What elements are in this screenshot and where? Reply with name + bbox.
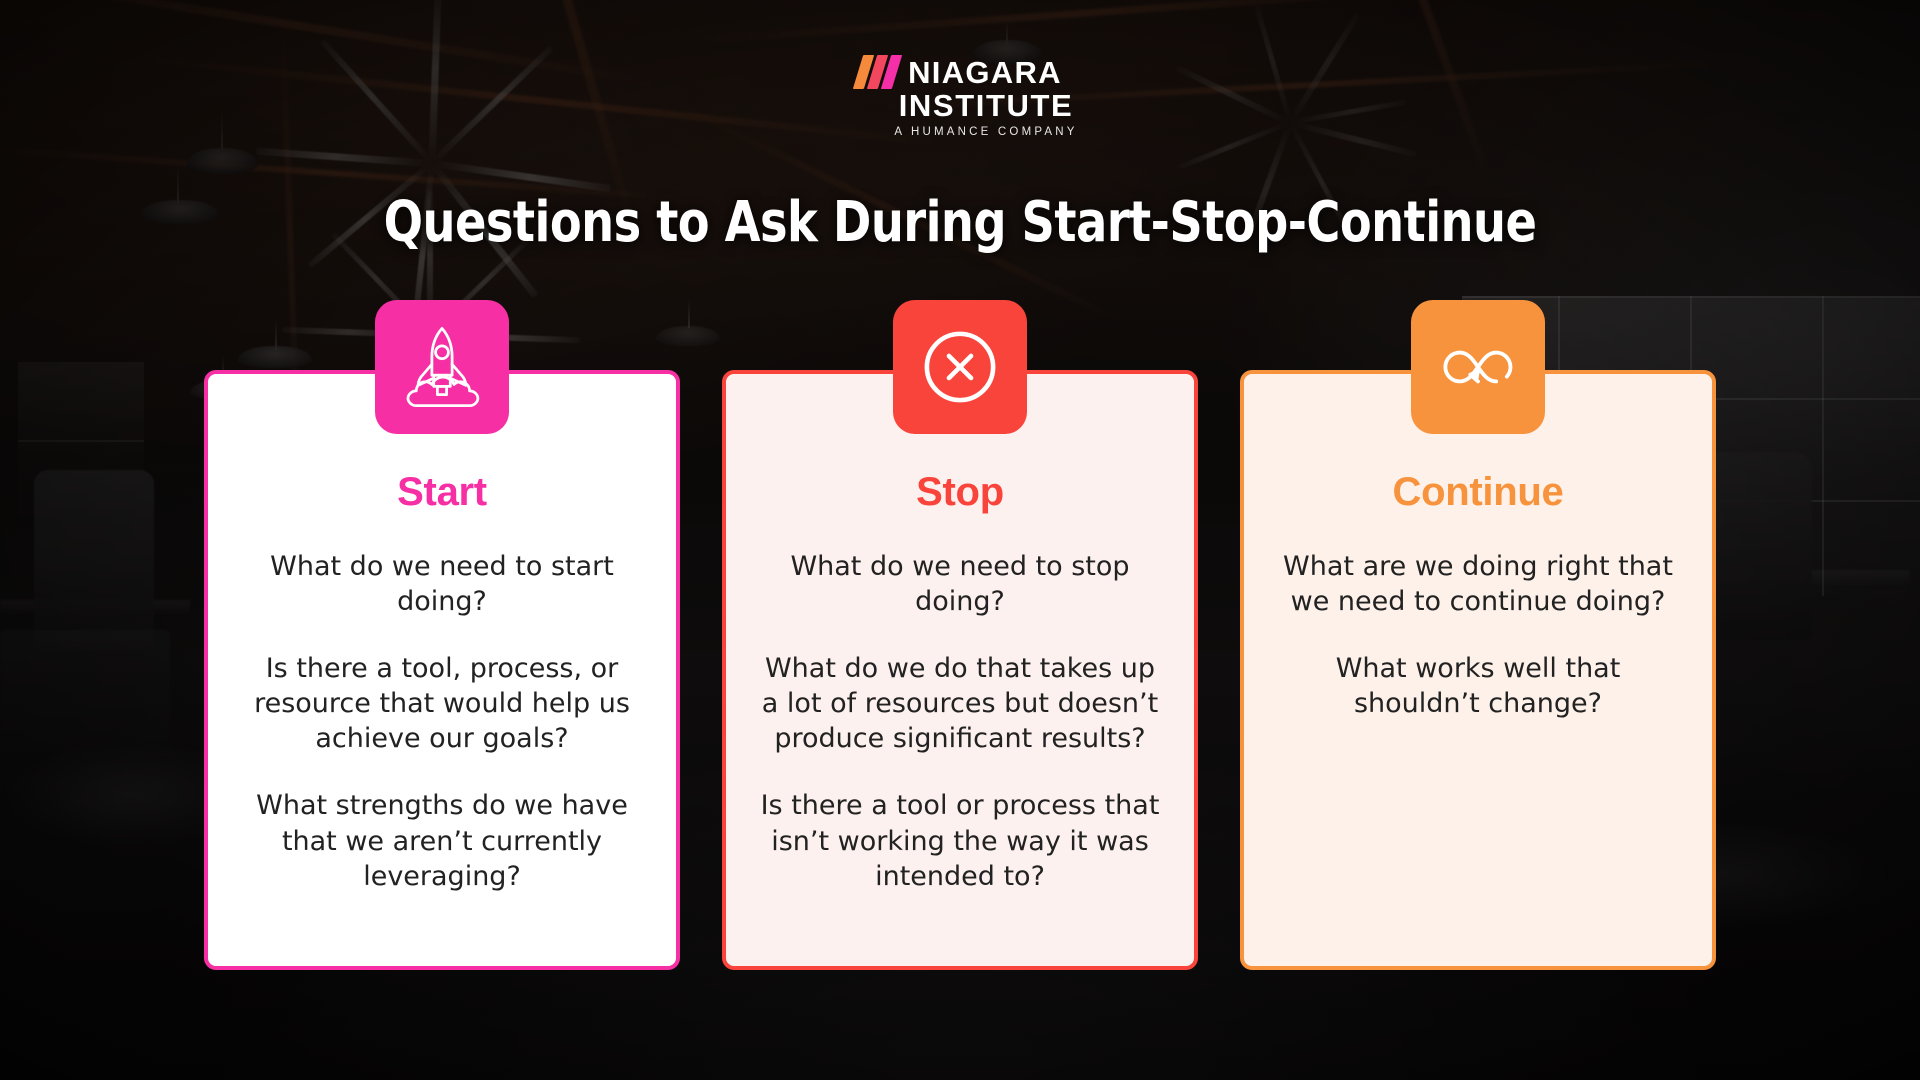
logo-name-line1: NIAGARA — [908, 57, 1062, 88]
card-question: Is there a tool, process, or resource th… — [238, 651, 646, 756]
logo-mark-icon — [858, 55, 897, 89]
card-body-continue: Continue What are we doing right that we… — [1240, 370, 1716, 970]
card-question: What are we doing right that we need to … — [1274, 549, 1682, 619]
card-question: What do we need to stop doing? — [756, 549, 1164, 619]
card-title-start: Start — [238, 470, 646, 515]
card-question: Is there a tool or process that isn’t wo… — [756, 788, 1164, 893]
card-title-stop: Stop — [756, 470, 1164, 515]
logo-name-line2: INSTITUTE — [899, 89, 1074, 122]
card-start: Start What do we need to start doing? Is… — [204, 370, 680, 970]
page-title: Questions to Ask During Start-Stop-Conti… — [77, 190, 1843, 255]
card-question: What do we do that takes up a lot of res… — [756, 651, 1164, 756]
infinity-arrow-icon — [1411, 300, 1545, 434]
card-title-continue: Continue — [1274, 470, 1682, 515]
card-continue: Continue What are we doing right that we… — [1240, 370, 1716, 970]
card-body-start: Start What do we need to start doing? Is… — [204, 370, 680, 970]
logo-tagline: A HUMANCE COMPANY — [894, 126, 1077, 138]
niagara-institute-logo: NIAGARA INSTITUTE A HUMANCE COMPANY — [0, 55, 1920, 138]
rocket-icon — [375, 300, 509, 434]
cards-row: Start What do we need to start doing? Is… — [0, 370, 1920, 970]
card-body-stop: Stop What do we need to stop doing? What… — [722, 370, 1198, 970]
card-question: What works well that shouldn’t change? — [1274, 651, 1682, 721]
slide-canvas: NIAGARA INSTITUTE A HUMANCE COMPANY Ques… — [0, 0, 1920, 1080]
card-stop: Stop What do we need to stop doing? What… — [722, 370, 1198, 970]
card-question: What strengths do we have that we aren’t… — [238, 788, 646, 893]
circle-x-icon — [893, 300, 1027, 434]
card-question: What do we need to start doing? — [238, 549, 646, 619]
